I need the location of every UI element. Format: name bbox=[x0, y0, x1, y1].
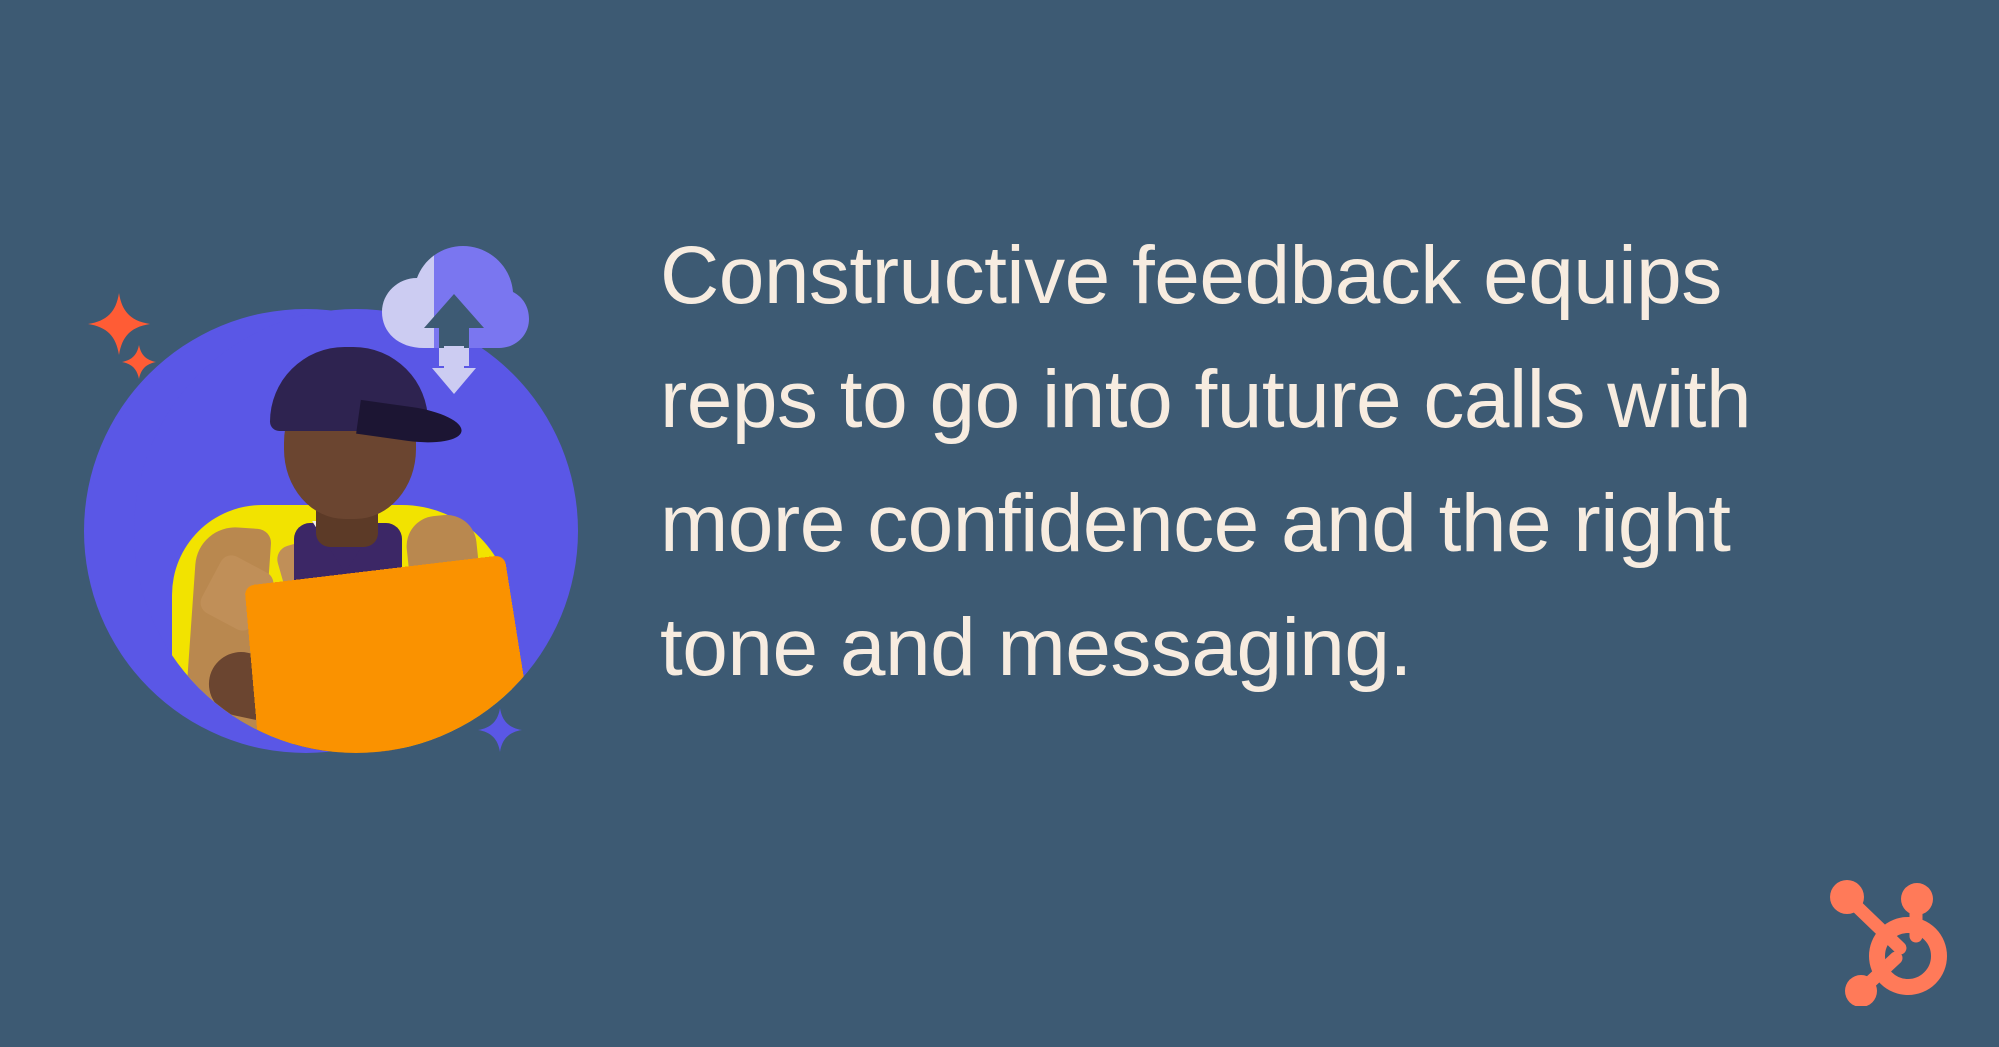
sparkle-blue-icon bbox=[478, 708, 522, 752]
sparkle-small-orange-icon bbox=[122, 345, 156, 379]
quote-card: A bbox=[0, 0, 1999, 1047]
illustration-group: A bbox=[0, 0, 620, 1047]
quote-text: Constructive feedback equips reps to go … bbox=[660, 214, 1900, 710]
hubspot-sprocket-logo bbox=[1828, 874, 1952, 1006]
cloud-sync-icon bbox=[378, 244, 530, 404]
